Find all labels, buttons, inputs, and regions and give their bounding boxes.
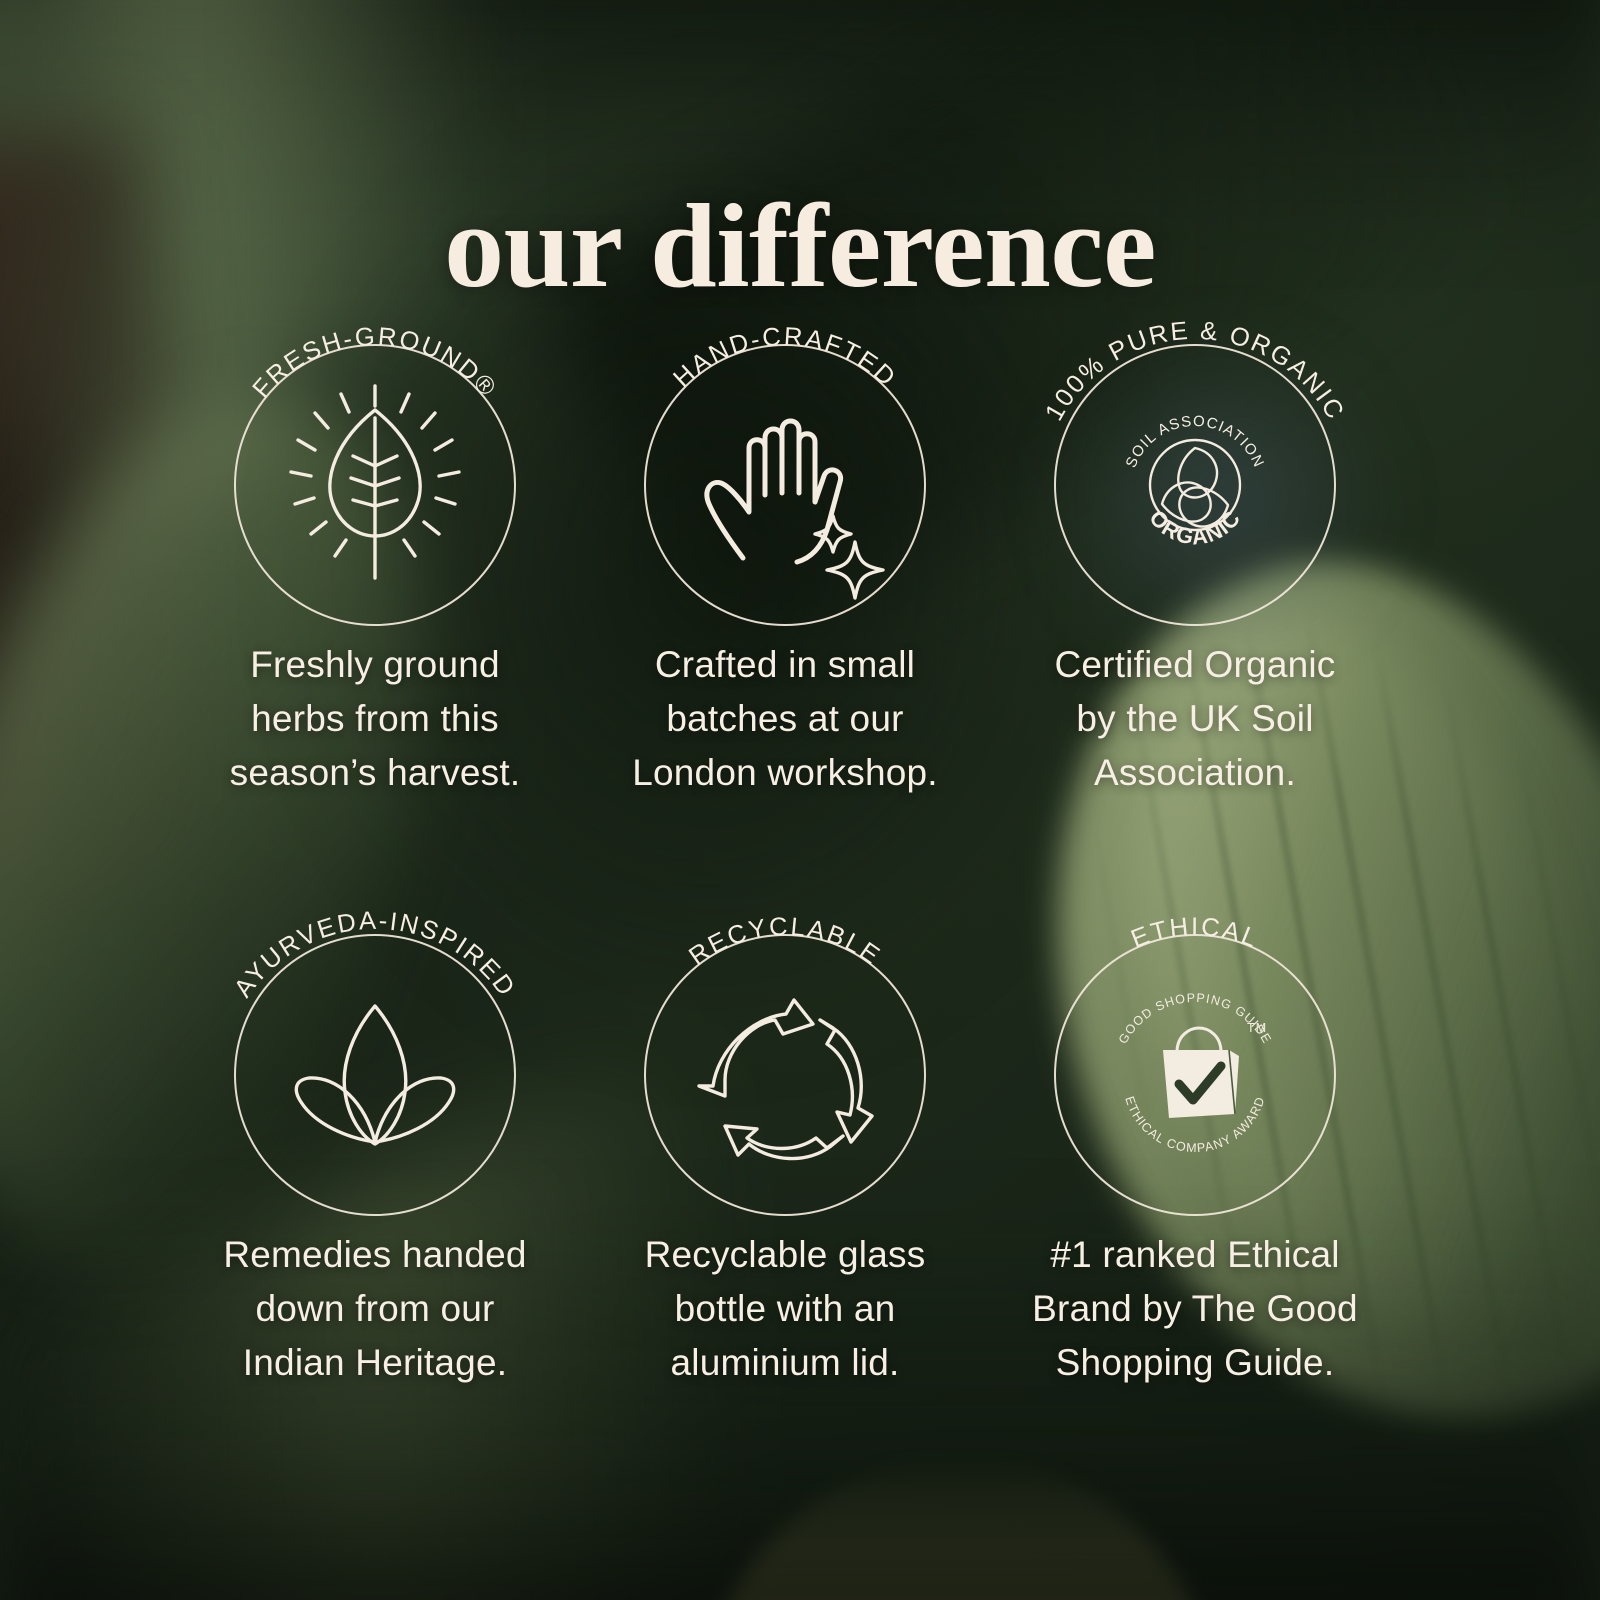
badge-mark: ETHICAL GOOD SHOPPING GUIDE ETHICAL COMP…: [985, 880, 1405, 1210]
badge-caption: Freshly ground herbs from this season’s …: [165, 638, 585, 800]
caption-line: season’s harvest.: [165, 746, 585, 800]
badge-caption: Remedies handed down from our Indian Her…: [165, 1228, 585, 1390]
badge-ring: [1055, 345, 1335, 625]
trademark-mark: TM: [1247, 1021, 1267, 1035]
badge-arc-label: AYURVEDA-INSPIRED: [229, 907, 521, 1003]
badge-mark: RECYCLABLE: [575, 880, 995, 1210]
badge-caption: Certified Organic by the UK Soil Associa…: [985, 638, 1405, 800]
lotus-icon: [296, 1006, 453, 1144]
badge-ring: [645, 935, 925, 1215]
badge-fresh-ground[interactable]: FRESH-GROUND®: [165, 290, 585, 620]
caption-line: aluminium lid.: [575, 1336, 995, 1390]
badge-ayurveda-inspired[interactable]: AYURVEDA-INSPIRED: [165, 880, 585, 1210]
leaf-with-rays-icon: [291, 386, 459, 578]
caption-line: Freshly ground: [165, 638, 585, 692]
badge-mark: HAND-CRAFTED: [575, 290, 995, 620]
caption-line: herbs from this: [165, 692, 585, 746]
badge-mark: AYURVEDA-INSPIRED: [165, 880, 585, 1210]
badge-mark: 100% PURE & ORGANIC SOIL ASSOCIATION ORG…: [985, 290, 1405, 620]
open-hand-with-sparkles-icon: [707, 421, 883, 598]
caption-line: batches at our: [575, 692, 995, 746]
badge-row-bottom: AYURVEDA-INSPIRED: [0, 880, 1600, 1470]
page-title: our difference: [0, 186, 1600, 306]
caption-line: Recyclable glass: [575, 1228, 995, 1282]
badge-caption: Crafted in small batches at our London w…: [575, 638, 995, 800]
caption-line: Brand by The Good: [985, 1282, 1405, 1336]
badge-arc-label: HAND-CRAFTED: [668, 323, 902, 393]
badge-recyclable[interactable]: RECYCLABLE: [575, 880, 995, 1210]
badge-arc-label: 100% PURE & ORGANIC: [1040, 317, 1350, 426]
badge-hand-crafted[interactable]: HAND-CRAFTED Crafted in: [575, 290, 995, 620]
caption-line: Indian Heritage.: [165, 1336, 585, 1390]
caption-line: by the UK Soil: [985, 692, 1405, 746]
badge-caption: #1 ranked Ethical Brand by The Good Shop…: [985, 1228, 1405, 1390]
recycling-loop-icon: [699, 1000, 872, 1159]
badge-arc-label: RECYCLABLE: [684, 913, 886, 971]
caption-line: down from our: [165, 1282, 585, 1336]
caption-line: Shopping Guide.: [985, 1336, 1405, 1390]
caption-line: Certified Organic: [985, 638, 1405, 692]
badge-row-top: FRESH-GROUND®: [0, 290, 1600, 880]
caption-line: bottle with an: [575, 1282, 995, 1336]
badge-ethical[interactable]: ETHICAL GOOD SHOPPING GUIDE ETHICAL COMP…: [985, 880, 1405, 1210]
badge-grid: FRESH-GROUND®: [0, 290, 1600, 1470]
caption-line: Remedies handed: [165, 1228, 585, 1282]
badge-pure-and-organic[interactable]: 100% PURE & ORGANIC SOIL ASSOCIATION ORG…: [985, 290, 1405, 620]
caption-line: Association.: [985, 746, 1405, 800]
badge-arc-label: ETHICAL: [1127, 913, 1263, 954]
good-shopping-guide-text: GOOD SHOPPING GUIDE: [1116, 991, 1274, 1046]
good-shopping-guide-award-icon: GOOD SHOPPING GUIDE ETHICAL COMPANY AWAR…: [1116, 991, 1274, 1155]
badge-caption: Recyclable glass bottle with an aluminiu…: [575, 1228, 995, 1390]
our-difference-graphic: our difference FRESH-GROUND®: [0, 0, 1600, 1600]
soil-association-text: SOIL ASSOCIATION: [1123, 413, 1268, 471]
caption-line: London workshop.: [575, 746, 995, 800]
soil-association-organic-icon: SOIL ASSOCIATION ORGANIC: [1123, 413, 1268, 550]
caption-line: #1 ranked Ethical: [985, 1228, 1405, 1282]
caption-line: Crafted in small: [575, 638, 995, 692]
badge-mark: FRESH-GROUND®: [165, 290, 585, 620]
badge-ring: [235, 935, 515, 1215]
